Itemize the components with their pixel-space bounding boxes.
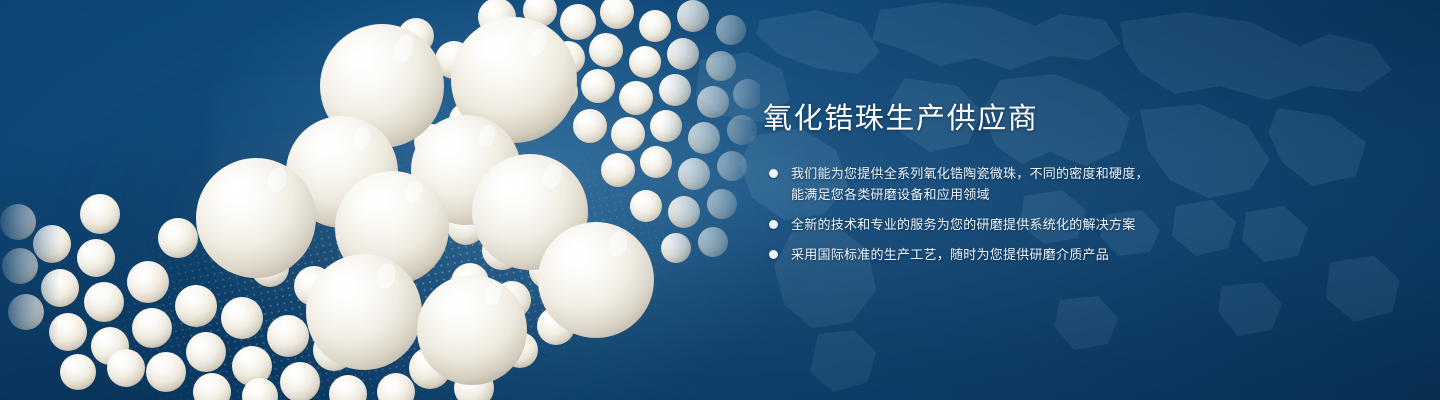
list-item: 采用国际标准的生产工艺，随时为您提供研磨介质产品: [763, 244, 1233, 265]
list-item-line: 能满足您各类研磨设备和应用领域: [791, 184, 1233, 205]
feature-list: 我们能为您提供全系列氧化锆陶瓷微珠，不同的密度和硬度， 能满足您各类研磨设备和应…: [763, 163, 1233, 265]
bullet-dot-icon: [769, 250, 778, 259]
zirconia-beads-image: [0, 0, 760, 400]
list-item-line: 我们能为您提供全系列氧化锆陶瓷微珠，不同的密度和硬度，: [791, 163, 1233, 184]
page-title: 氧化锆珠生产供应商: [763, 104, 1233, 136]
banner-copy: 氧化锆珠生产供应商 我们能为您提供全系列氧化锆陶瓷微珠，不同的密度和硬度， 能满…: [763, 104, 1233, 265]
promo-banner: 氧化锆珠生产供应商 我们能为您提供全系列氧化锆陶瓷微珠，不同的密度和硬度， 能满…: [0, 0, 1440, 400]
bullet-dot-icon: [769, 220, 778, 229]
bullet-dot-icon: [769, 169, 778, 178]
list-item-line: 采用国际标准的生产工艺，随时为您提供研磨介质产品: [791, 244, 1233, 265]
list-item-line: 全新的技术和专业的服务为您的研磨提供系统化的解决方案: [791, 214, 1233, 235]
list-item: 我们能为您提供全系列氧化锆陶瓷微珠，不同的密度和硬度， 能满足您各类研磨设备和应…: [763, 163, 1233, 205]
list-item: 全新的技术和专业的服务为您的研磨提供系统化的解决方案: [763, 214, 1233, 235]
